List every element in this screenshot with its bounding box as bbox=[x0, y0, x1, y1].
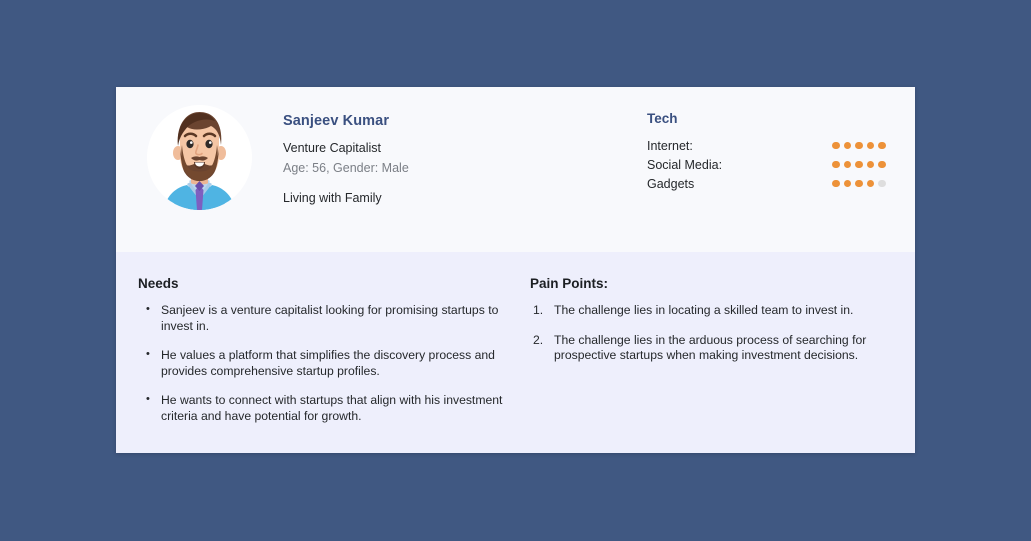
tech-rating-label: Gadgets bbox=[647, 177, 832, 191]
rating-dot-filled bbox=[844, 161, 852, 169]
rating-dot-empty bbox=[878, 180, 886, 188]
needs-item: Sanjeev is a venture capitalist looking … bbox=[138, 303, 523, 334]
rating-dot-filled bbox=[832, 180, 840, 188]
needs-item: He wants to connect with startups that a… bbox=[138, 393, 523, 424]
rating-dot-filled bbox=[855, 142, 863, 150]
persona-card: Sanjeev Kumar Venture Capitalist Age: 56… bbox=[116, 87, 915, 453]
tech-rating-label: Social Media: bbox=[647, 158, 832, 172]
rating-dot-filled bbox=[867, 180, 875, 188]
avatar bbox=[147, 105, 252, 210]
rating-dot-filled bbox=[855, 161, 863, 169]
needs-column: Needs Sanjeev is a venture capitalist lo… bbox=[138, 276, 523, 439]
tech-rating-label: Internet: bbox=[647, 139, 832, 153]
person-name: Sanjeev Kumar bbox=[283, 113, 409, 129]
rating-dot-filled bbox=[844, 180, 852, 188]
tech-rating-dots bbox=[832, 142, 886, 150]
tech-rating-dots bbox=[832, 161, 886, 169]
needs-title: Needs bbox=[138, 276, 523, 291]
rating-dot-filled bbox=[867, 142, 875, 150]
tech-rating-list: Internet:Social Media:Gadgets bbox=[647, 136, 887, 193]
tech-rating-dots bbox=[832, 180, 886, 188]
pain-point-number: 2. bbox=[533, 333, 543, 349]
rating-dot-filled bbox=[867, 161, 875, 169]
person-role: Venture Capitalist bbox=[283, 138, 409, 158]
pain-point-number: 1. bbox=[533, 303, 543, 319]
persona-header-section: Sanjeev Kumar Venture Capitalist Age: 56… bbox=[116, 87, 915, 252]
pain-point-item: 1.The challenge lies in locating a skill… bbox=[530, 303, 900, 319]
tech-rating-row: Gadgets bbox=[647, 174, 887, 193]
persona-details-section: Needs Sanjeev is a venture capitalist lo… bbox=[116, 252, 915, 453]
needs-list: Sanjeev is a venture capitalist looking … bbox=[138, 303, 523, 425]
tech-title: Tech bbox=[647, 111, 887, 126]
rating-dot-filled bbox=[855, 180, 863, 188]
avatar-bearded-man-in-suit-icon bbox=[147, 105, 252, 210]
pain-points-column: Pain Points: 1.The challenge lies in loc… bbox=[530, 276, 900, 378]
rating-dot-filled bbox=[878, 142, 886, 150]
tech-rating-row: Social Media: bbox=[647, 155, 887, 174]
rating-dot-filled bbox=[832, 142, 840, 150]
pain-points-list: 1.The challenge lies in locating a skill… bbox=[530, 303, 900, 364]
person-living-situation: Living with Family bbox=[283, 191, 409, 205]
pain-point-text: The challenge lies in the arduous proces… bbox=[554, 333, 866, 363]
tech-rating-row: Internet: bbox=[647, 136, 887, 155]
pain-point-text: The challenge lies in locating a skilled… bbox=[554, 303, 853, 317]
rating-dot-filled bbox=[844, 142, 852, 150]
identity-block: Sanjeev Kumar Venture Capitalist Age: 56… bbox=[283, 113, 409, 205]
rating-dot-filled bbox=[878, 161, 886, 169]
tech-block: Tech Internet:Social Media:Gadgets bbox=[647, 111, 887, 193]
rating-dot-filled bbox=[832, 161, 840, 169]
pain-point-item: 2.The challenge lies in the arduous proc… bbox=[530, 333, 900, 364]
pain-points-title: Pain Points: bbox=[530, 276, 900, 291]
person-demographics: Age: 56, Gender: Male bbox=[283, 158, 409, 178]
needs-item: He values a platform that simplifies the… bbox=[138, 348, 523, 379]
